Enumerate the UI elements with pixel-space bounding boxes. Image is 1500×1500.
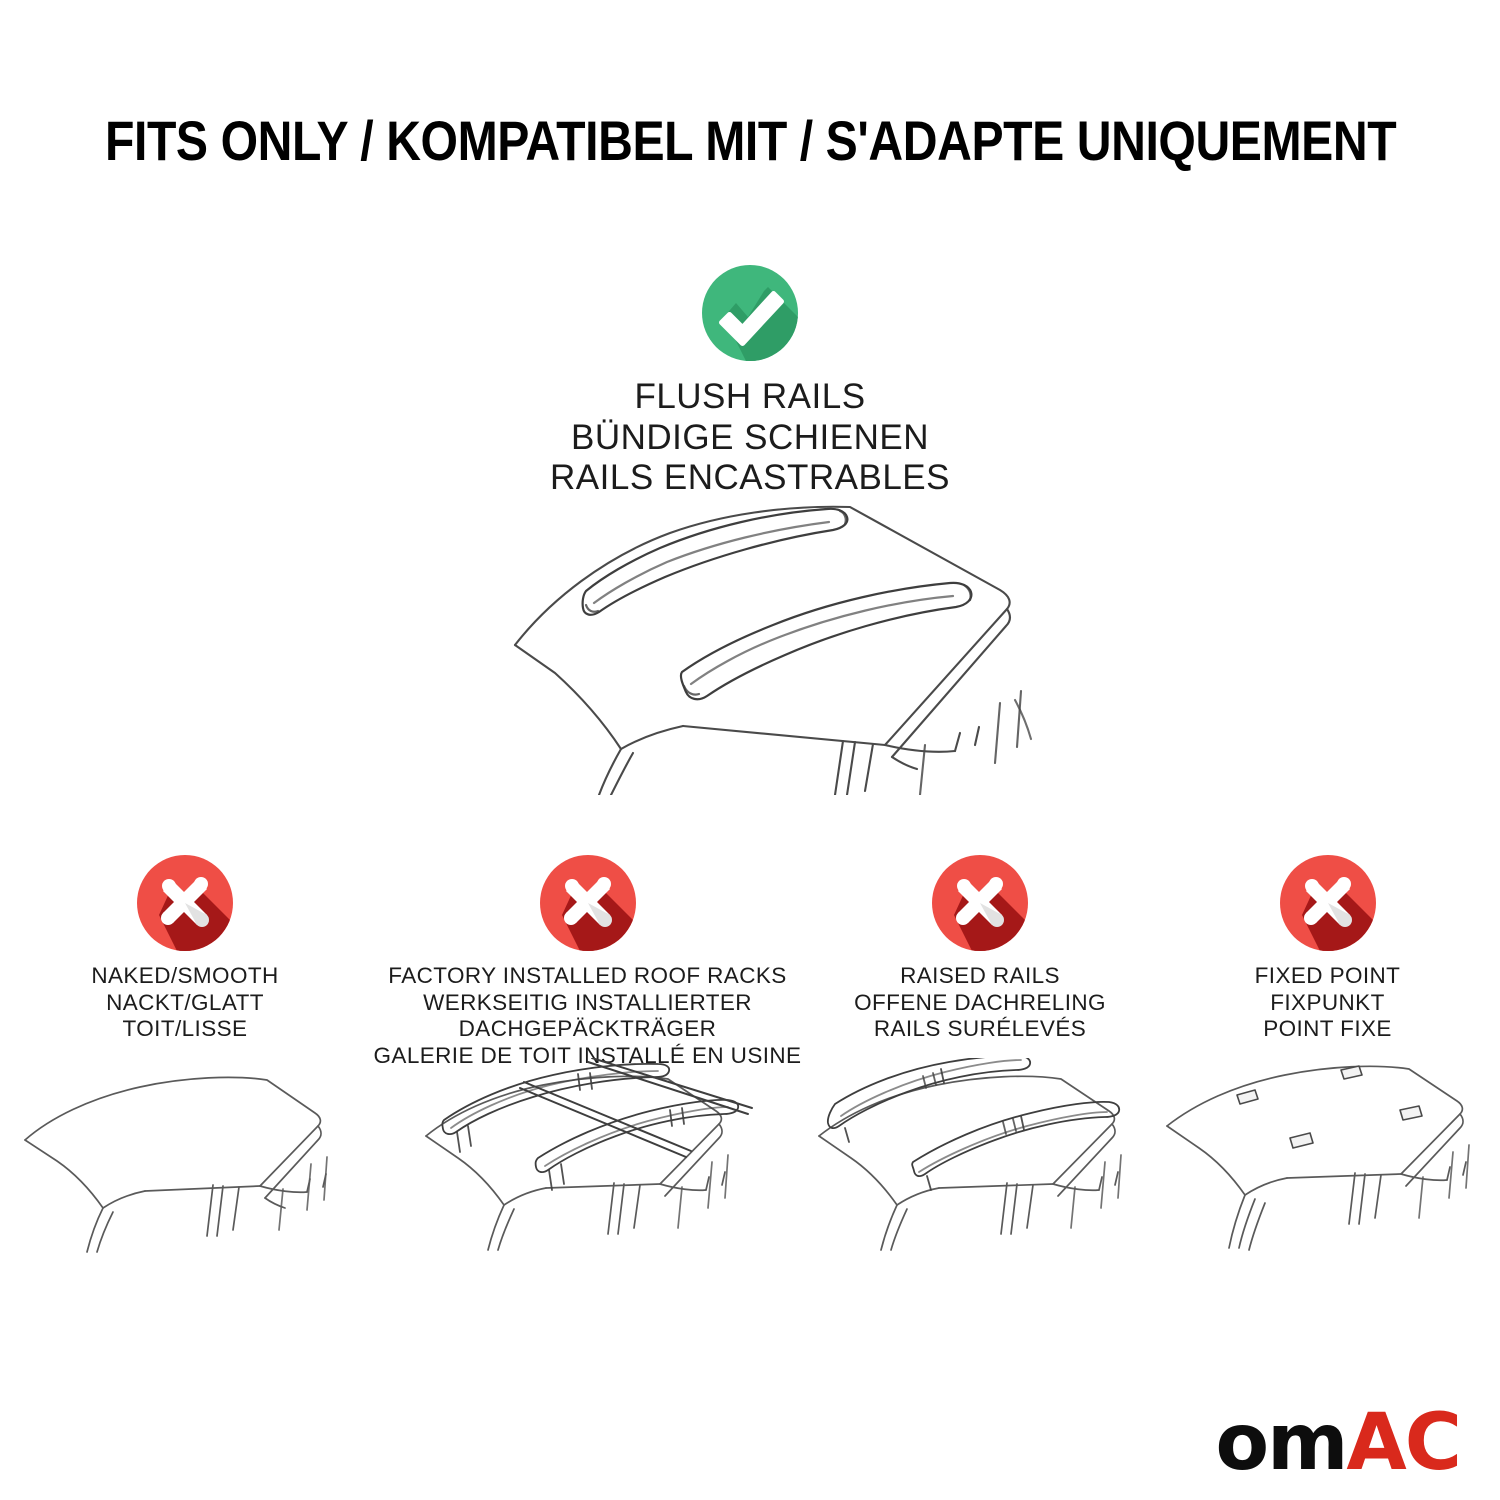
approved-label-de: BÜNDIGE SCHIENEN <box>550 418 950 459</box>
denied-label-fr: RAILS SURÉLEVÉS <box>854 1016 1106 1043</box>
denied-label-de: OFFENE DACHRELING <box>854 990 1106 1017</box>
car-roof-factory-roof-racks-illustration <box>370 1058 805 1268</box>
denied-label-en: FIXED POINT <box>1255 963 1401 990</box>
denied-label-group: FIXED POINT FIXPUNKT POINT FIXE <box>1255 963 1401 1043</box>
denied-label-de-2: DACHGEPÄCKTRÄGER <box>374 1016 802 1043</box>
approved-section: FLUSH RAILS BÜNDIGE SCHIENEN RAILS ENCAS… <box>0 265 1500 499</box>
denied-section: NAKED/SMOOTH NACKT/GLATT TOIT/LISSE FACT… <box>0 855 1500 1069</box>
denied-label-en: NAKED/SMOOTH <box>91 963 278 990</box>
denied-label-en: FACTORY INSTALLED ROOF RACKS <box>374 963 802 990</box>
cross-circle-icon <box>932 855 1028 951</box>
denied-label-group: FACTORY INSTALLED ROOF RACKS WERKSEITIG … <box>374 963 802 1069</box>
check-circle-icon <box>702 265 798 361</box>
omac-logo-red-text: AC <box>1346 1404 1460 1482</box>
cross-circle-icon <box>540 855 636 951</box>
car-roof-fixed-point-illustration <box>1155 1058 1500 1268</box>
omac-logo: om AC <box>1216 1404 1460 1482</box>
omac-logo-dark-text: om <box>1216 1404 1347 1482</box>
car-roof-raised-rails-illustration <box>805 1058 1155 1268</box>
denied-label-group: RAISED RAILS OFFENE DACHRELING RAILS SUR… <box>854 963 1106 1043</box>
denied-label-de: NACKT/GLATT <box>91 990 278 1017</box>
denied-item-fixed-point: FIXED POINT FIXPUNKT POINT FIXE <box>1155 855 1500 1043</box>
cross-circle-icon <box>1280 855 1376 951</box>
denied-label-en: RAISED RAILS <box>854 963 1106 990</box>
page-title: FITS ONLY / KOMPATIBEL MIT / S'ADAPTE UN… <box>105 108 1395 173</box>
denied-roof-illustration-row <box>0 1058 1500 1268</box>
cross-circle-icon <box>137 855 233 951</box>
denied-label-de-1: WERKSEITIG INSTALLIERTER <box>374 990 802 1017</box>
approved-label-en: FLUSH RAILS <box>550 377 950 418</box>
denied-item-naked-smooth: NAKED/SMOOTH NACKT/GLATT TOIT/LISSE <box>0 855 370 1043</box>
denied-label-fr: TOIT/LISSE <box>91 1016 278 1043</box>
car-roof-flush-rails-illustration <box>455 495 1065 795</box>
car-roof-naked-smooth-illustration <box>0 1058 370 1268</box>
denied-label-fr: POINT FIXE <box>1255 1016 1401 1043</box>
denied-label-de: FIXPUNKT <box>1255 990 1401 1017</box>
denied-item-raised-rails: RAISED RAILS OFFENE DACHRELING RAILS SUR… <box>805 855 1155 1043</box>
denied-label-group: NAKED/SMOOTH NACKT/GLATT TOIT/LISSE <box>91 963 278 1043</box>
approved-label-fr: RAILS ENCASTRABLES <box>550 458 950 499</box>
denied-item-factory-roof-racks: FACTORY INSTALLED ROOF RACKS WERKSEITIG … <box>370 855 805 1069</box>
approved-label-group: FLUSH RAILS BÜNDIGE SCHIENEN RAILS ENCAS… <box>550 377 950 499</box>
